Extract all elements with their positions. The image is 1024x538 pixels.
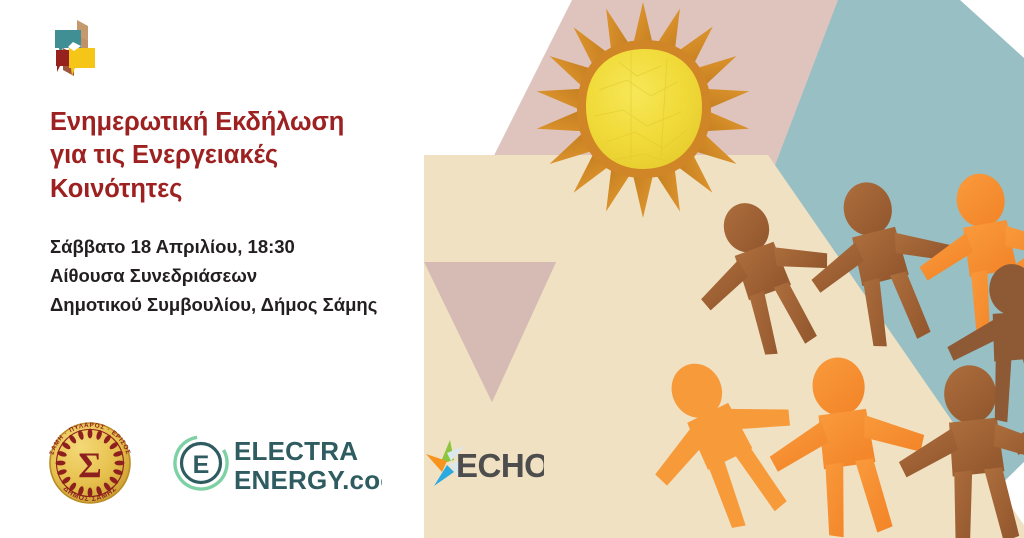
echo-logo: ECHO [402, 434, 544, 492]
paper-person [675, 181, 854, 372]
municipality-seal-logo: Σ ΣΑΜΗ · ΠΥΛΑΡΟΣ · ΕΡΙΣΟΣ ΔΗΜΟΣ ΣΑΜΗΣ [38, 411, 142, 515]
paper-person [1005, 340, 1024, 529]
paper-person [792, 166, 971, 361]
poster-headline: Ενημερωτική Εκδήλωση για τις Ενεργειακές… [50, 106, 450, 206]
electra-energy-coop-logo: E ELECTRA ENERGY.coop [162, 430, 382, 496]
electra-speech-bubble-mark-icon [47, 18, 103, 80]
event-poster: Ενημερωτική Εκδήλωση για τις Ενεργειακές… [0, 0, 1024, 538]
paper-person [905, 162, 1024, 349]
partner-logo-strip: Σ ΣΑΜΗ · ΠΥΛΑΡΟΣ · ΕΡΙΣΟΣ ΔΗΜΟΣ ΣΑΜΗΣ [38, 408, 544, 518]
paper-person [757, 347, 936, 538]
echo-wordmark: ECHO [456, 447, 544, 484]
electra-wordmark-line1: ELECTRA [234, 436, 358, 466]
people-holding-hands-icon [618, 162, 1024, 538]
paper-person [618, 333, 826, 538]
seal-center-glyph: Σ [78, 445, 102, 485]
paper-person [890, 357, 1024, 538]
sun-icon [534, 2, 751, 218]
paper-person [942, 259, 1024, 426]
diagonal-band-teal [633, 0, 1024, 538]
electra-mark-glyph: E [193, 451, 210, 479]
paper-person [1001, 167, 1024, 346]
poster-content: Ενημερωτική Εκδήλωση για τις Ενεργειακές… [0, 0, 470, 538]
event-details: Σάββατο 18 Απριλίου, 18:30 Αίθουσα Συνεδ… [50, 233, 470, 320]
